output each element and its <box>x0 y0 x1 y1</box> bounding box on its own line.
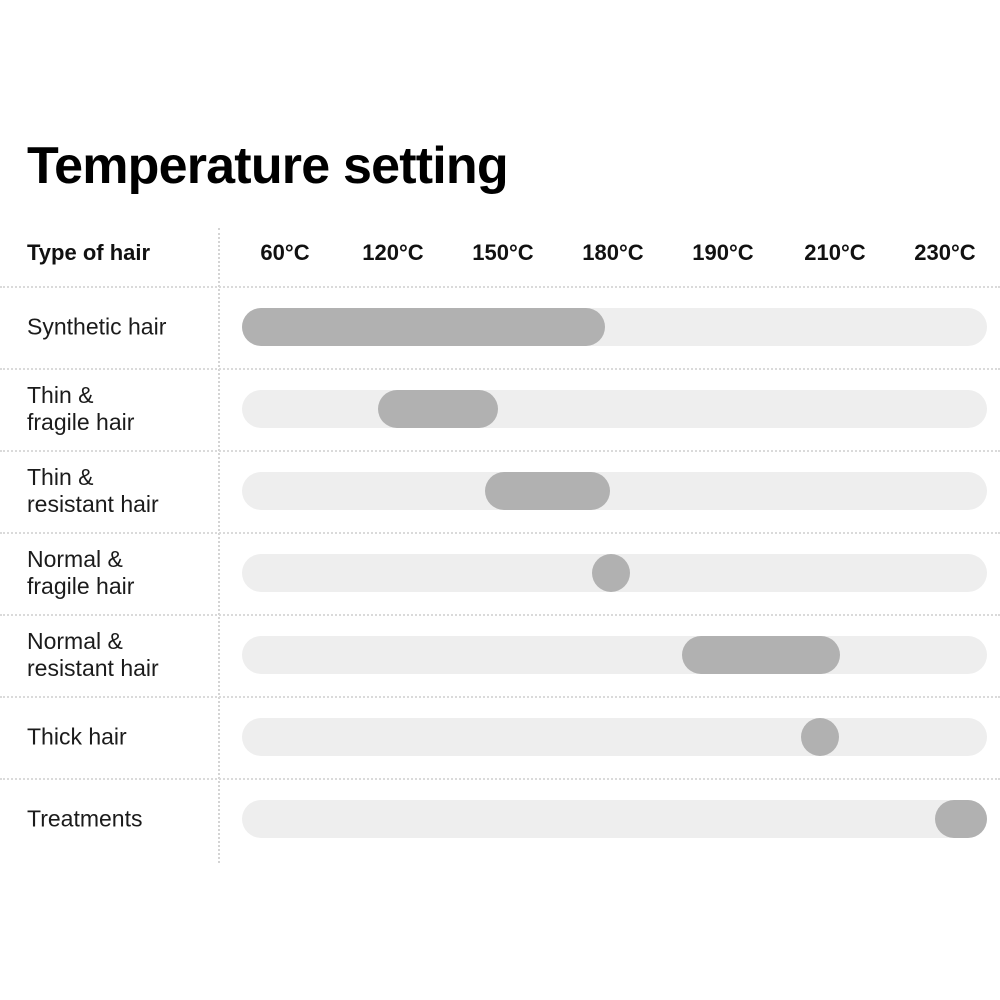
row-track-thin-fragile-hair <box>242 390 987 428</box>
table-row: Thin & fragile hair <box>0 368 1000 450</box>
row-label-synthetic-hair: Synthetic hair <box>27 313 166 340</box>
table-row: Thick hair <box>0 696 1000 778</box>
header-temp-60: 60°C <box>260 240 309 266</box>
header-type-of-hair: Type of hair <box>27 240 150 266</box>
row-fill-thin-resistant-hair <box>485 472 610 510</box>
row-label-thin-resistant-hair: Thin & resistant hair <box>27 464 159 518</box>
row-label-thin-fragile-hair: Thin & fragile hair <box>27 382 134 436</box>
table-header-row: Type of hair 60°C 120°C 150°C 180°C 190°… <box>0 228 1000 286</box>
row-fill-thick-hair <box>801 718 839 756</box>
row-label-normal-resistant-hair: Normal & resistant hair <box>27 628 159 682</box>
row-track-thin-resistant-hair <box>242 472 987 510</box>
row-track-treatments <box>242 800 987 838</box>
table-row: Normal & fragile hair <box>0 532 1000 614</box>
temperature-table: Type of hair 60°C 120°C 150°C 180°C 190°… <box>0 228 1000 868</box>
row-track-normal-resistant-hair <box>242 636 987 674</box>
table-row: Normal & resistant hair <box>0 614 1000 696</box>
row-track-normal-fragile-hair <box>242 554 987 592</box>
row-fill-thin-fragile-hair <box>378 390 498 428</box>
row-label-treatments: Treatments <box>27 805 142 832</box>
table-row: Synthetic hair <box>0 286 1000 368</box>
row-track-synthetic-hair <box>242 308 987 346</box>
row-label-normal-fragile-hair: Normal & fragile hair <box>27 546 134 600</box>
header-temp-120: 120°C <box>362 240 423 266</box>
header-temp-210: 210°C <box>804 240 865 266</box>
temperature-setting-chart: Temperature setting Type of hair 60°C 12… <box>0 0 1000 1000</box>
row-label-thick-hair: Thick hair <box>27 723 127 750</box>
row-track-thick-hair <box>242 718 987 756</box>
header-temp-150: 150°C <box>472 240 533 266</box>
page-title: Temperature setting <box>27 140 508 192</box>
row-fill-synthetic-hair <box>242 308 605 346</box>
row-fill-normal-fragile-hair <box>592 554 630 592</box>
header-temp-190: 190°C <box>692 240 753 266</box>
table-row: Treatments <box>0 778 1000 860</box>
row-fill-treatments <box>935 800 987 838</box>
table-row: Thin & resistant hair <box>0 450 1000 532</box>
header-temp-230: 230°C <box>914 240 975 266</box>
header-temp-180: 180°C <box>582 240 643 266</box>
row-fill-normal-resistant-hair <box>682 636 840 674</box>
